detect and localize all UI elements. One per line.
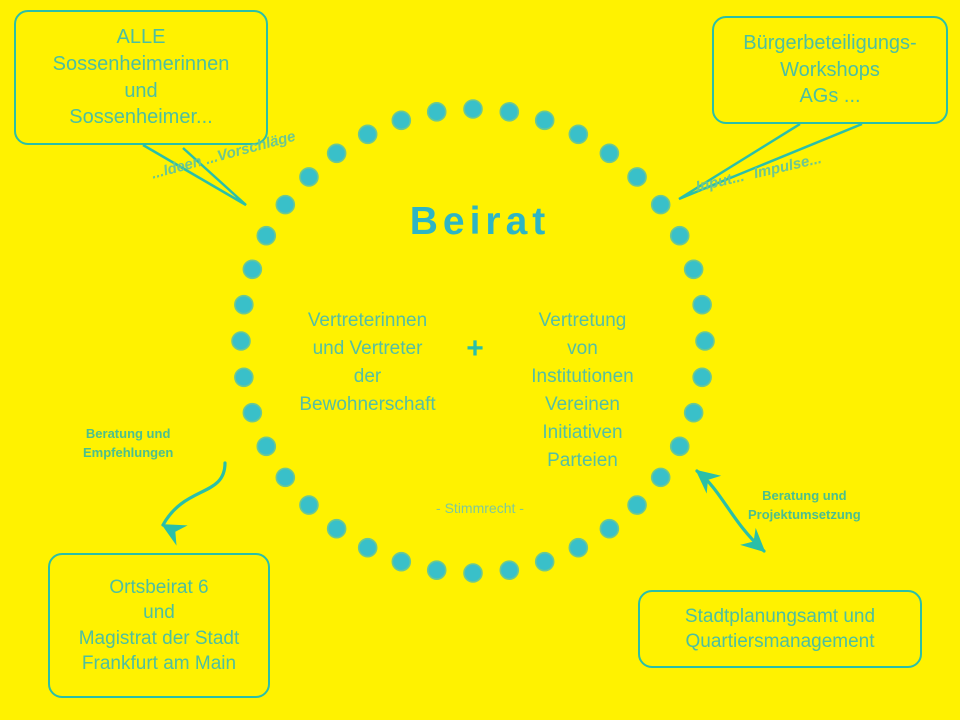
diagram-canvas: ALLE Sossenheimerinnen und Sossenheimer.… [0,0,960,720]
ring-dot [569,539,587,557]
plus-icon: + [455,334,495,364]
label-beratung-projektumsetzung: Beratung und Projektumsetzung [748,487,861,525]
ring-dot [569,125,587,143]
ring-dot [428,561,446,579]
box-stadtplanung[interactable]: Stadtplanungsamt und Quartiersmanagement [638,590,922,668]
ring-dot [328,144,346,162]
box-ortsbeirat-line-2: und [143,600,175,625]
label-beratung-projekt-line-2: Projektumsetzung [748,507,861,522]
center-left-line-4: Bewohnerschaft [280,391,455,419]
ring-dot [428,103,446,121]
ring-dot [464,100,482,118]
ring-dot [500,103,518,121]
bubble-citizens-line-3: und [124,78,157,105]
bubble-workshops-line-2: Workshops [780,57,880,84]
center-right-line-3: Institutionen [495,363,670,391]
ring-dot [232,332,250,350]
ring-dot [696,332,714,350]
ring-dot [500,561,518,579]
bubble-citizens-line-1: ALLE [117,24,166,51]
label-beratung-empfehlungen-line-2: Empfehlungen [83,445,173,460]
page-title: Beirat [0,200,960,244]
ring-dot [359,539,377,557]
label-beratung-projekt-line-1: Beratung und [762,488,847,503]
center-right-line-1: Vertretung [495,307,670,335]
ring-dot [600,144,618,162]
bubble-workshops-line-3: AGs ... [799,83,860,110]
ring-dot [536,553,554,571]
center-left-line-3: der [280,363,455,391]
ring-dot [328,520,346,538]
bubble-citizens[interactable]: ALLE Sossenheimerinnen und Sossenheimer.… [14,10,268,145]
center-right-line-5: Initiativen [495,419,670,447]
center-left-line-2: und Vertreter [280,335,455,363]
box-stadtplanung-line-2: Quartiersmanagement [685,629,874,654]
box-ortsbeirat-line-4: Frankfurt am Main [82,651,236,676]
ring-dot [464,564,482,582]
ring-dot [300,168,318,186]
bubble-citizens-line-4: Sossenheimer... [69,104,212,131]
center-right-line-4: Vereinen [495,391,670,419]
bubble-workshops-line-1: Bürgerbeteiligungs- [743,30,916,57]
ring-dot [243,260,261,278]
ring-dot [693,296,711,314]
label-beratung-empfehlungen: Beratung und Empfehlungen [83,425,173,463]
box-ortsbeirat-line-1: Ortsbeirat 6 [109,575,208,600]
ring-dot [600,520,618,538]
label-beratung-empfehlungen-line-1: Beratung und [86,426,171,441]
ring-dot [536,111,554,129]
center-left-line-1: Vertreterinnen [280,307,455,335]
box-ortsbeirat-line-3: Magistrat der Stadt [79,626,240,651]
box-stadtplanung-line-1: Stadtplanungsamt und [685,604,875,629]
ring-dot [693,368,711,386]
center-right-line-6: Parteien [495,447,670,475]
ring-dot [628,168,646,186]
ring-dot [235,296,253,314]
ring-dot [685,260,703,278]
ring-dot [392,111,410,129]
center-composition: Vertreterinnen und Vertreter der Bewohne… [255,307,695,475]
center-right-line-2: von [495,335,670,363]
box-ortsbeirat[interactable]: Ortsbeirat 6 und Magistrat der Stadt Fra… [48,553,270,698]
ring-dot [392,553,410,571]
ring-dot [235,368,253,386]
ring-dot [359,125,377,143]
center-column-right: Vertretung von Institutionen Vereinen In… [495,307,670,475]
center-column-left: Vertreterinnen und Vertreter der Bewohne… [280,307,455,419]
bubble-workshops[interactable]: Bürgerbeteiligungs- Workshops AGs ... [712,16,948,124]
bubble-citizens-line-2: Sossenheimerinnen [53,51,230,78]
